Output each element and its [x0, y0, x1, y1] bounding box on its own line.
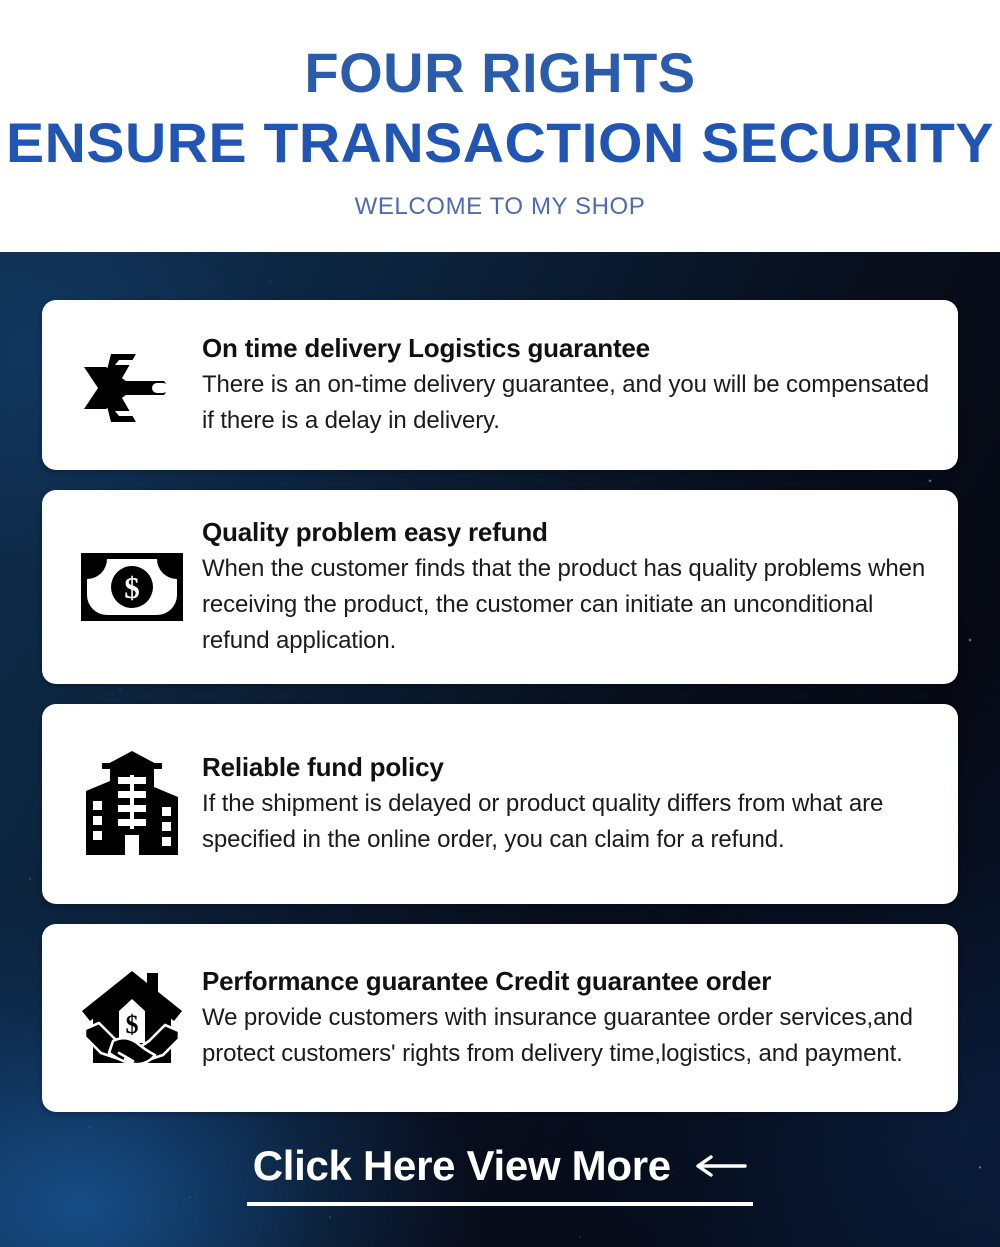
card-body: On time delivery Logistics guarantee The…: [196, 331, 940, 439]
guarantee-card-delivery[interactable]: On time delivery Logistics guarantee The…: [42, 300, 958, 470]
svg-text:$: $: [126, 1010, 139, 1039]
view-more-link[interactable]: Click Here View More: [247, 1140, 754, 1206]
svg-text:$: $: [124, 570, 140, 605]
buildings-icon: [68, 749, 196, 859]
cta-label: Click Here View More: [253, 1140, 671, 1192]
card-body: Performance guarantee Credit guarantee o…: [196, 964, 940, 1072]
card-title: On time delivery Logistics guarantee: [202, 331, 934, 365]
card-body: Reliable fund policy If the shipment is …: [196, 750, 940, 858]
guarantee-card-performance[interactable]: $ Performance guarantee Credit guarantee…: [42, 924, 958, 1112]
airplane-icon: [68, 348, 196, 422]
arrow-left-icon: [693, 1153, 747, 1179]
guarantee-card-list: On time delivery Logistics guarantee The…: [42, 300, 958, 1132]
page-subtitle: WELCOME TO MY SHOP: [0, 176, 1000, 222]
card-description: If the shipment is delayed or product qu…: [202, 786, 934, 858]
promo-banner: FOUR RIGHTS ENSURE TRANSACTION SECURITY …: [0, 0, 1000, 1247]
page-title-line-1: FOUR RIGHTS: [0, 0, 1000, 106]
card-description: When the customer finds that the product…: [202, 551, 934, 659]
card-title: Reliable fund policy: [202, 750, 934, 784]
card-description: We provide customers with insurance guar…: [202, 1000, 934, 1072]
guarantee-card-refund[interactable]: $ Quality problem easy refund When the c…: [42, 490, 958, 684]
starfield-background: On time delivery Logistics guarantee The…: [0, 252, 1000, 1247]
banner-header: FOUR RIGHTS ENSURE TRANSACTION SECURITY …: [0, 0, 1000, 252]
page-title-line-2: ENSURE TRANSACTION SECURITY: [0, 106, 1000, 176]
card-title: Quality problem easy refund: [202, 515, 934, 549]
banknote-dollar-icon: $: [68, 553, 196, 621]
card-body: Quality problem easy refund When the cus…: [196, 515, 940, 659]
card-description: There is an on-time delivery guarantee, …: [202, 367, 934, 439]
guarantee-card-fund-policy[interactable]: Reliable fund policy If the shipment is …: [42, 704, 958, 904]
card-title: Performance guarantee Credit guarantee o…: [202, 964, 934, 998]
cta-section: Click Here View More: [0, 1140, 1000, 1206]
house-handshake-icon: $: [68, 967, 196, 1069]
